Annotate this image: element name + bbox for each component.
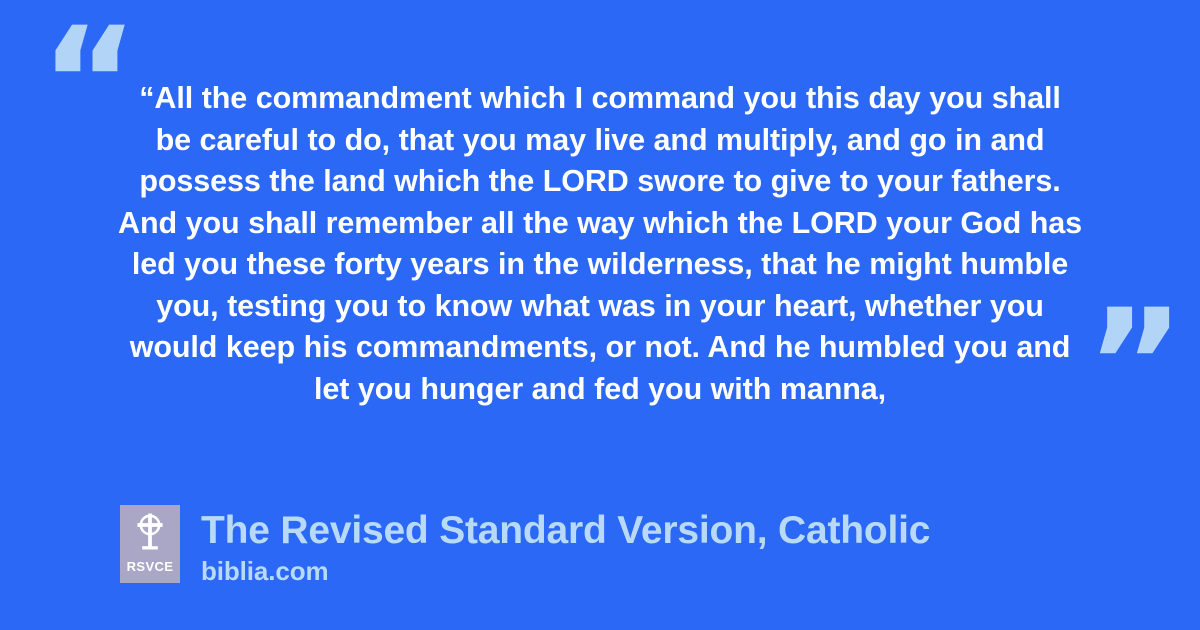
celtic-cross-icon: [133, 512, 167, 552]
quote-block: “All the commandment which I command you…: [118, 78, 1082, 410]
footer: RSVCE The Revised Standard Version, Cath…: [120, 505, 930, 586]
edition-abbreviation: RSVCE: [127, 560, 174, 573]
site-url[interactable]: biblia.com: [201, 556, 930, 586]
edition-title: The Revised Standard Version, Catholic: [201, 508, 930, 554]
closing-quote-icon: ”: [1086, 290, 1185, 440]
footer-text-group: The Revised Standard Version, Catholic b…: [201, 505, 930, 586]
quote-text: “All the commandment which I command you…: [118, 78, 1082, 410]
quote-card: “ ” “All the commandment which I command…: [0, 0, 1200, 630]
edition-logo-badge: RSVCE: [120, 505, 180, 583]
